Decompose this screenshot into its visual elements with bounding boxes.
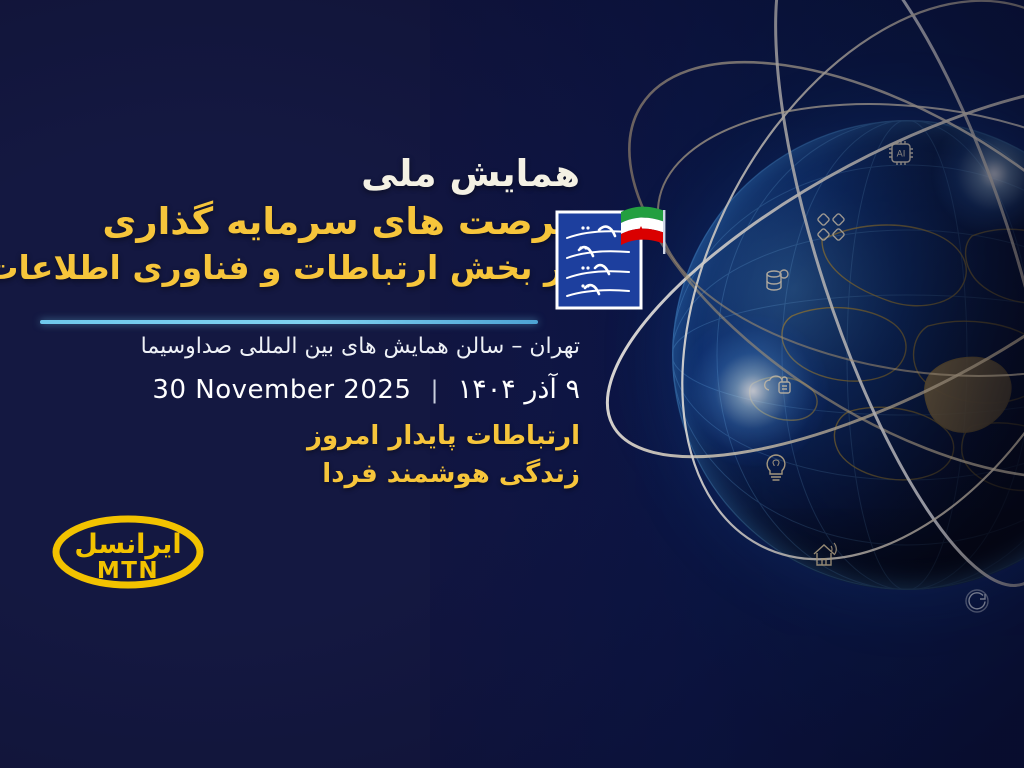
date-gregorian: 30 November 2025 xyxy=(152,375,411,405)
ministry-of-ict-logo xyxy=(553,198,671,314)
conference-poster: AI xyxy=(0,0,1024,768)
headline-line-1: همایش ملی xyxy=(80,152,580,196)
headline-line-3: در بخش ارتباطات و فناوری اطلاعات xyxy=(80,249,580,288)
irancell-mtn-logo: ایرانسل MTN xyxy=(48,512,208,592)
headline-line-2: فرصت های سرمایه گذاری xyxy=(80,200,580,244)
slogan-line-2: زندگی هوشمند فردا xyxy=(80,456,580,494)
accent-divider xyxy=(40,320,538,324)
slogan-line-1: ارتباطات پایدار امروز xyxy=(80,418,580,456)
slogan: ارتباطات پایدار امروز زندگی هوشمند فردا xyxy=(80,418,580,493)
irancell-brand-fa: ایرانسل xyxy=(74,529,181,560)
date-persian: ۹ آذر ۱۴۰۴ xyxy=(458,374,580,405)
date-line: ۹ آذر ۱۴۰۴ | 30 November 2025 xyxy=(80,374,580,405)
date-separator: | xyxy=(431,376,439,404)
page-title: همایش ملی فرصت های سرمایه گذاری در بخش ا… xyxy=(80,152,580,288)
irancell-brand-en: MTN xyxy=(97,558,159,584)
poster-content: همایش ملی فرصت های سرمایه گذاری در بخش ا… xyxy=(0,0,620,768)
venue-text: تهران – سالن همایش های بین المللی صداوسی… xyxy=(80,334,580,359)
